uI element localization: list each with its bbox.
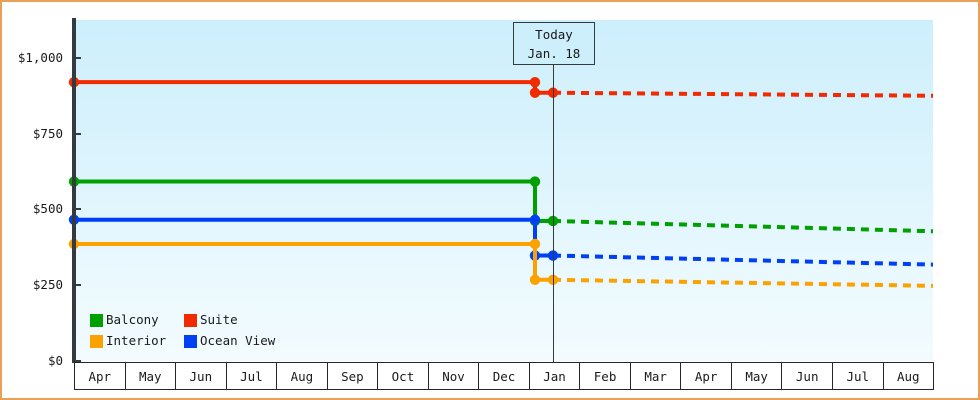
x-axis-month-cell[interactable]: Nov (429, 363, 480, 389)
legend-label-ocean-view: Ocean View (200, 335, 275, 348)
x-axis-month-cell[interactable]: Apr (75, 363, 126, 389)
legend-label-balcony: Balcony (106, 314, 159, 327)
y-axis-tick-label: $750 (33, 128, 63, 141)
series-solid-segment (74, 244, 553, 280)
today-label-line2: Jan. 18 (514, 44, 594, 63)
x-axis-month-cell[interactable]: May (126, 363, 177, 389)
x-axis-month-cell[interactable]: Oct (378, 363, 429, 389)
today-marker-line (553, 64, 554, 370)
legend-label-interior: Interior (106, 335, 166, 348)
series-forecast-segment (553, 221, 933, 231)
legend-item-suite[interactable]: Suite (184, 314, 238, 327)
legend-swatch-suite (184, 314, 197, 327)
series-suite (69, 77, 933, 98)
series-ocean-view (69, 215, 933, 265)
y-axis-tick (74, 208, 81, 210)
x-axis-month-cell[interactable]: Mar (631, 363, 682, 389)
legend-row: Interior Ocean View (90, 331, 300, 352)
y-axis-tick (74, 133, 81, 135)
y-axis-tick-label: $1,000 (18, 52, 63, 65)
series-point-marker (530, 176, 540, 186)
series-balcony (69, 176, 933, 231)
x-axis-month-cell[interactable]: Jan (530, 363, 581, 389)
x-axis-month-cell[interactable]: May (732, 363, 783, 389)
x-axis-month-cell[interactable]: Jul (227, 363, 278, 389)
legend-item-interior[interactable]: Interior (90, 335, 184, 348)
y-axis-tick (74, 57, 81, 59)
legend-swatch-balcony (90, 314, 103, 327)
series-solid-segment (74, 220, 553, 256)
y-axis-line (72, 18, 76, 363)
x-axis-month-cell[interactable]: Jul (833, 363, 884, 389)
today-label-line1: Today (514, 25, 594, 44)
series-point-marker (530, 275, 540, 285)
series-point-marker (530, 215, 540, 225)
x-axis-month-cell[interactable]: Jun (782, 363, 833, 389)
legend-item-balcony[interactable]: Balcony (90, 314, 184, 327)
y-axis-tick-label: $500 (33, 203, 63, 216)
x-axis-month-cell[interactable]: Apr (681, 363, 732, 389)
series-solid-segment (74, 82, 553, 93)
today-marker-label: Today Jan. 18 (513, 22, 595, 65)
x-axis-month-cell[interactable]: Sep (328, 363, 379, 389)
chart-legend: Balcony Suite Interior Ocean View (90, 310, 300, 352)
legend-row: Balcony Suite (90, 310, 300, 331)
series-solid-segment (74, 182, 553, 221)
x-axis-month-strip: AprMayJunJulAugSepOctNovDecJanFebMarAprM… (74, 362, 934, 390)
legend-swatch-ocean-view (184, 335, 197, 348)
x-axis-month-cell[interactable]: Aug (884, 363, 934, 389)
x-axis-month-cell[interactable]: Jun (176, 363, 227, 389)
series-point-marker (530, 77, 540, 87)
y-axis-tick (74, 284, 81, 286)
series-forecast-segment (553, 93, 933, 96)
y-axis-tick-label: $0 (48, 355, 63, 368)
legend-label-suite: Suite (200, 314, 238, 327)
series-interior (69, 239, 933, 286)
legend-item-ocean-view[interactable]: Ocean View (184, 335, 275, 348)
series-point-marker (530, 239, 540, 249)
series-point-marker (530, 88, 540, 98)
legend-swatch-interior (90, 335, 103, 348)
y-axis-tick-label: $250 (33, 279, 63, 292)
price-history-chart: $0$250$500$750$1,000 Today Jan. 18 Balco… (0, 0, 980, 400)
x-axis-month-cell[interactable]: Dec (479, 363, 530, 389)
x-axis-month-cell[interactable]: Aug (277, 363, 328, 389)
x-axis-month-cell[interactable]: Feb (580, 363, 631, 389)
series-forecast-segment (553, 256, 933, 265)
series-forecast-segment (553, 280, 933, 286)
